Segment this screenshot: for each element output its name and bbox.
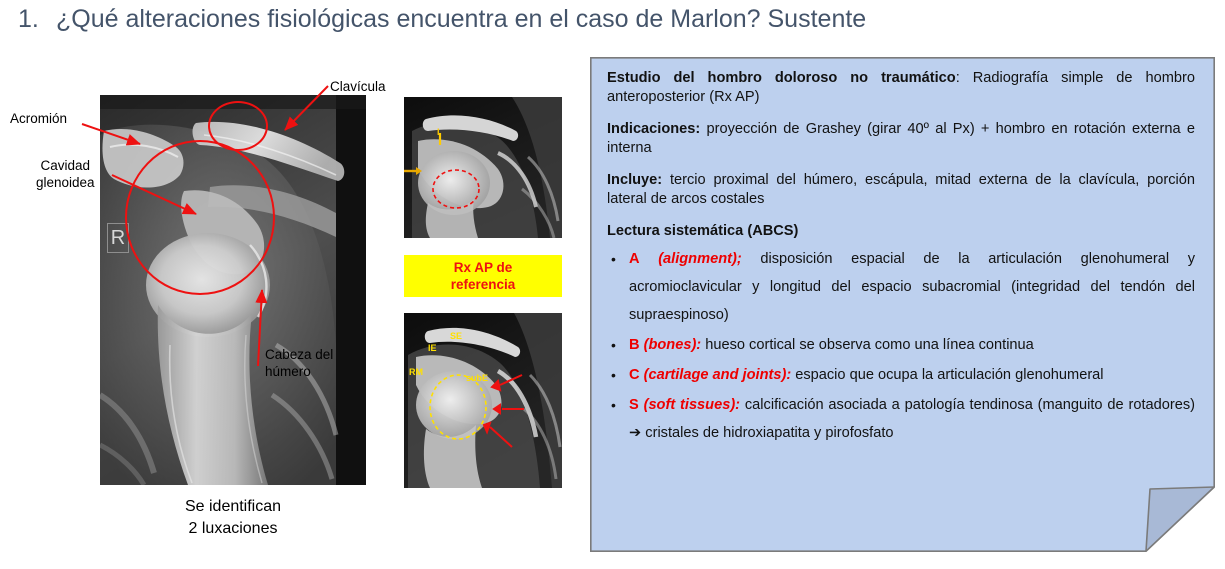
- abcs-item-s: S (soft tissues): calcificación asociada…: [607, 391, 1195, 447]
- abcs-item-b: B (bones): hueso cortical se observa com…: [607, 331, 1195, 359]
- label-acromion: Acromión: [10, 110, 67, 127]
- paragraph-indicaciones: Indicaciones: proyección de Grashey (gir…: [607, 120, 1195, 158]
- abcs-item-a: A (alignment); disposición espacial de l…: [607, 245, 1195, 329]
- abcs-item-a-term: (alignment);: [658, 251, 742, 267]
- mini-label-rm: RM: [409, 367, 423, 377]
- abcs-item-s-term: (soft tissues):: [644, 397, 740, 413]
- glenohumeral-highlight-circle: [125, 140, 275, 295]
- abcs-item-b-letter: B: [629, 337, 640, 353]
- title-text: ¿Qué alteraciones fisiológicas encuentra…: [56, 5, 866, 33]
- reference-radiograph-bottom-render: [404, 313, 562, 488]
- abcs-item-c: C (cartilage and joints): espacio que oc…: [607, 361, 1195, 389]
- abcs-item-c-body: espacio que ocupa la articulación glenoh…: [791, 367, 1103, 383]
- abcs-item-b-body: hueso cortical se observa como una línea…: [701, 337, 1034, 353]
- reference-radiograph-bottom: SE IE RM subE: [404, 313, 562, 488]
- label-cavidad-glenoidea: Cavidad glenoidea: [36, 157, 95, 191]
- paragraph-estudio: Estudio del hombro doloroso no traumátic…: [607, 69, 1195, 107]
- mini-label-i: I: [437, 127, 440, 137]
- label-clavicula: Clavícula: [330, 78, 386, 95]
- paragraph-incluye: Incluye: tercio proximal del húmero, esc…: [607, 171, 1195, 209]
- main-xray-caption: Se identifican 2 luxaciones: [100, 496, 366, 540]
- reference-radiograph-top: I: [404, 97, 562, 238]
- abcs-item-c-term: (cartilage and joints):: [644, 367, 792, 383]
- reference-radiograph-top-render: [404, 97, 562, 238]
- abcs-item-a-letter: A: [629, 251, 640, 267]
- info-panel-content: Estudio del hombro doloroso no traumátic…: [607, 69, 1199, 539]
- abcs-item-b-term: (bones):: [644, 337, 702, 353]
- abcs-item-s-letter: S: [629, 397, 639, 413]
- title-number: 1.: [18, 2, 56, 36]
- abcs-item-c-letter: C: [629, 367, 640, 383]
- main-xray-figure: R: [100, 95, 366, 485]
- abcs-heading: Lectura sistemática (ABCS): [607, 222, 1195, 241]
- label-cabeza-del-humero: Cabeza del húmero: [265, 346, 333, 380]
- reference-badge: Rx AP de referencia: [404, 255, 562, 297]
- paragraph-incluye-lead: Incluye:: [607, 172, 662, 188]
- mini-label-ie: IE: [428, 343, 437, 353]
- paragraph-incluye-body: tercio proximal del húmero, escápula, mi…: [607, 172, 1195, 207]
- paragraph-estudio-lead: Estudio del hombro doloroso no traumátic…: [607, 70, 956, 86]
- mini-label-se: SE: [450, 331, 462, 341]
- paragraph-indicaciones-lead: Indicaciones:: [607, 121, 700, 137]
- page-title: 1.¿Qué alteraciones fisiológicas encuent…: [18, 2, 1118, 36]
- info-panel: Estudio del hombro doloroso no traumátic…: [590, 57, 1215, 552]
- abcs-list: A (alignment); disposición espacial de l…: [607, 245, 1195, 447]
- mini-label-sube: subE: [466, 373, 488, 383]
- shoulder-radiograph-image: R: [100, 95, 366, 485]
